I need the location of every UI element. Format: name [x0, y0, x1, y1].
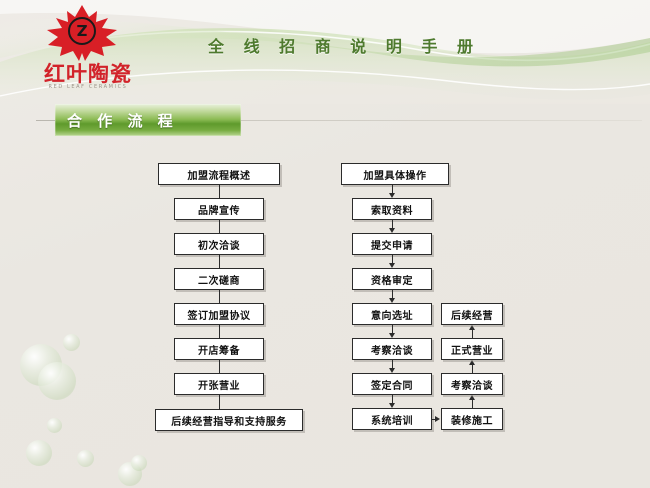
page-title: 全 线 招 商 说 明 手 册 — [208, 33, 480, 57]
connector-arrow — [469, 325, 475, 330]
flow-header-overview: 加盟流程概述 — [158, 163, 280, 185]
bubble-decoration — [38, 362, 76, 400]
flow-step-operation-0: 索取资料 — [352, 198, 432, 220]
flow-step-operation-5: 签定合同 — [352, 373, 432, 395]
connector-line-overview-footer — [219, 395, 220, 409]
flow-step-followup-1: 考察洽谈 — [441, 373, 503, 395]
flow-header-operation: 加盟具体操作 — [341, 163, 449, 185]
flow-step-operation-4: 考察洽谈 — [352, 338, 432, 360]
connector-arrow — [435, 416, 440, 422]
connector-line-followup-1 — [472, 364, 473, 373]
connector-line-overview-3 — [219, 290, 220, 303]
flow-step-operation-2: 资格审定 — [352, 268, 432, 290]
flow-step-overview-5: 开张营业 — [174, 373, 264, 395]
connector-line-overview-0 — [219, 185, 220, 198]
logo-name-en: RED LEAF CERAMICS — [30, 84, 146, 90]
flow-step-overview-0: 品牌宣传 — [174, 198, 264, 220]
connector-line-overview-5 — [219, 360, 220, 373]
flow-step-followup-0: 装修施工 — [441, 408, 503, 430]
svg-text:Z: Z — [76, 21, 87, 39]
flow-step-overview-3: 签订加盟协议 — [174, 303, 264, 325]
connector-line-overview-4 — [219, 325, 220, 338]
slide-canvas: Z 红叶陶瓷 RED LEAF CERAMICS 全 线 招 商 说 明 手 册… — [0, 0, 650, 488]
flow-footer-overview: 后续经营指导和支持服务 — [155, 409, 303, 431]
bubble-decoration — [63, 334, 80, 351]
connector-line-overview-1 — [219, 220, 220, 233]
connector-arrow — [469, 360, 475, 365]
connector-line-followup-2 — [472, 329, 473, 338]
flow-step-operation-3: 意向选址 — [352, 303, 432, 325]
bubble-decoration — [26, 440, 52, 466]
bubble-decoration — [118, 462, 142, 486]
section-title: 合 作 流 程 — [67, 110, 178, 131]
flow-step-operation-6: 系统培训 — [352, 408, 432, 430]
bubble-decoration — [131, 455, 147, 471]
connector-arrow — [469, 395, 475, 400]
flow-step-overview-4: 开店筹备 — [174, 338, 264, 360]
bubble-decoration — [77, 450, 94, 467]
connector-line-followup-0 — [472, 399, 473, 408]
flow-step-overview-1: 初次洽谈 — [174, 233, 264, 255]
brand-logo: Z 红叶陶瓷 RED LEAF CERAMICS — [16, 4, 146, 102]
connector-line-overview-2 — [219, 255, 220, 268]
flow-step-followup-2: 正式营业 — [441, 338, 503, 360]
flow-step-followup-3: 后续经营 — [441, 303, 503, 325]
bubble-decoration — [20, 344, 62, 386]
flow-step-overview-2: 二次磋商 — [174, 268, 264, 290]
maple-leaf-icon: Z — [44, 4, 120, 62]
bubble-decoration — [47, 418, 62, 433]
flow-step-operation-1: 提交申请 — [352, 233, 432, 255]
